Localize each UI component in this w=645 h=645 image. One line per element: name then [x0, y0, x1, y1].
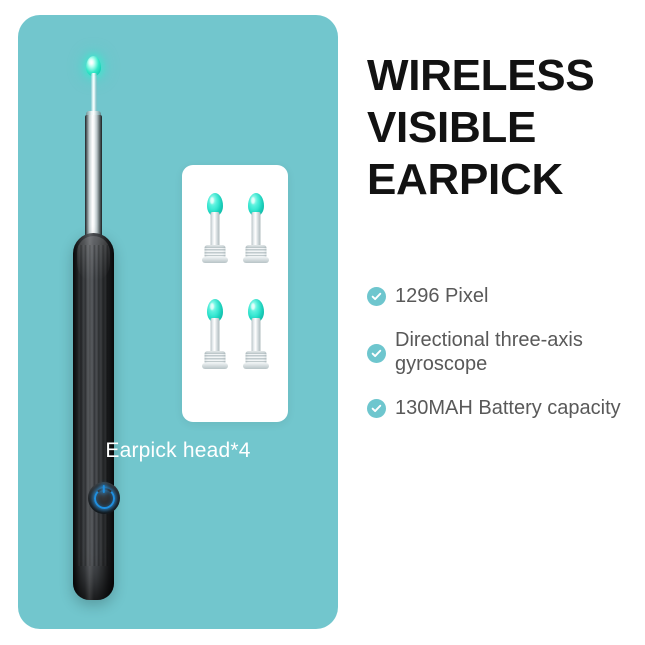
feature-item: 130MAH Battery capacity [367, 396, 642, 420]
product-info-column: WIRELESS VISIBLE EARPICK 1296 Pixel [367, 0, 637, 645]
earpick-head-flange [202, 257, 228, 263]
earpick-head-flange [243, 257, 269, 263]
headline-line-2: VISIBLE [367, 102, 637, 154]
power-button[interactable] [88, 482, 120, 514]
headline-line-3: EARPICK [367, 154, 637, 206]
earpick-head-item [194, 295, 235, 401]
earpick-head-item [235, 295, 276, 401]
earpick-head-stem [210, 212, 219, 249]
device-handle [73, 233, 114, 600]
feature-label: Directional three-axis gyroscope [395, 328, 642, 376]
earpick-heads-card [182, 165, 288, 422]
feature-list: 1296 Pixel Directional three-axis gyrosc… [367, 284, 642, 440]
headline-line-1: WIRELESS [367, 50, 637, 102]
clear-probe-shaft [91, 73, 97, 115]
earpick-head-stem [251, 318, 260, 355]
earpick-head-flange [243, 363, 269, 369]
product-headline: WIRELESS VISIBLE EARPICK [367, 50, 637, 206]
check-circle-icon [367, 399, 386, 418]
earpick-head-item [194, 189, 235, 295]
earpick-head-flange [202, 363, 228, 369]
check-circle-icon [367, 344, 386, 363]
check-circle-icon [367, 287, 386, 306]
earpick-heads-grid [182, 165, 288, 422]
handle-specular-highlight [85, 233, 94, 600]
feature-item: 1296 Pixel [367, 284, 642, 308]
earpick-head-item [235, 189, 276, 295]
feature-label: 1296 Pixel [395, 284, 488, 308]
product-image-panel: Earpick head*4 [18, 15, 338, 629]
earpick-heads-caption: Earpick head*4 [18, 439, 338, 463]
feature-item: Directional three-axis gyroscope [367, 328, 642, 376]
feature-label: 130MAH Battery capacity [395, 396, 621, 420]
product-marketing-image: Earpick head*4 WIRELESS VISIBLE EARPICK … [0, 0, 645, 645]
power-ring-indicator-icon [94, 488, 115, 509]
earpick-device-illustration [18, 15, 338, 629]
earpick-head-stem [251, 212, 260, 249]
earpick-head-stem [210, 318, 219, 355]
